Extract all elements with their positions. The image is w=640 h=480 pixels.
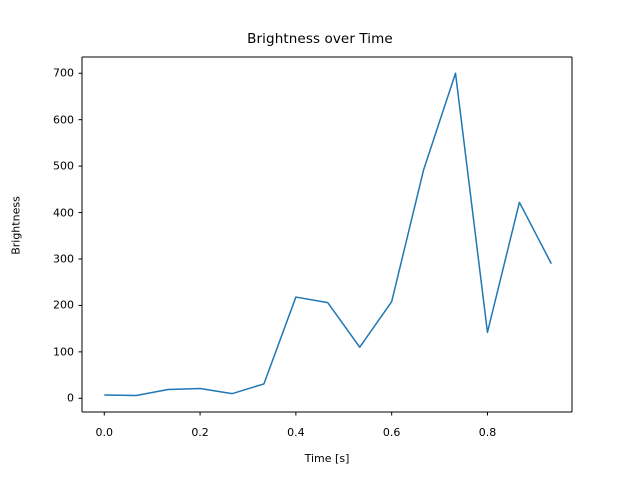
y-axis-tick-marks — [79, 73, 83, 398]
y-tick-label: 300 — [34, 252, 74, 265]
matplotlib-figure: Brightness over Time 0100200300400500600… — [0, 0, 640, 480]
x-axis-tick-marks — [104, 412, 487, 416]
x-tick-label: 0.6 — [369, 426, 415, 439]
y-tick-label: 0 — [34, 392, 74, 405]
y-tick-label: 700 — [34, 67, 74, 80]
plot-background — [82, 57, 572, 412]
y-axis-label-wrapper: Brightness — [0, 0, 30, 480]
x-tick-label: 0.4 — [273, 426, 319, 439]
y-tick-label: 500 — [34, 160, 74, 173]
y-tick-label: 600 — [34, 113, 74, 126]
y-tick-label: 100 — [34, 345, 74, 358]
y-axis-label: Brightness — [10, 181, 23, 271]
y-tick-label-group: 0100200300400500600700 — [34, 0, 74, 480]
x-axis-label: Time [s] — [82, 452, 572, 465]
x-tick-label: 0.2 — [177, 426, 223, 439]
x-tick-label: 0.0 — [81, 426, 127, 439]
plot-canvas — [0, 0, 640, 480]
y-tick-label: 400 — [34, 206, 74, 219]
x-tick-label: 0.8 — [464, 426, 510, 439]
x-tick-label-group: 0.00.20.40.60.8 — [0, 426, 640, 444]
y-tick-label: 200 — [34, 299, 74, 312]
